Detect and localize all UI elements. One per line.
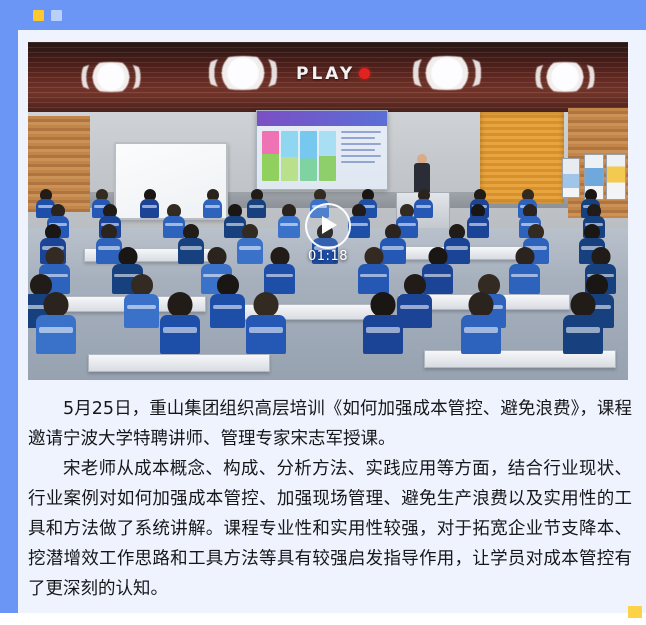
- article-paragraph-2: 宋老师从成本概念、构成、分析方法、实践应用等方面，结合行业现状、行业案例对如何加…: [28, 454, 632, 604]
- ceiling-sign-dot-icon: [359, 68, 370, 79]
- slide-image-tiles: [262, 131, 336, 181]
- content-card: PLAY: [18, 30, 646, 613]
- top-header-bar: [0, 0, 646, 30]
- audience-member: [160, 292, 200, 354]
- ceiling-sign-text: PLAY: [296, 64, 355, 84]
- video-duration-label: 01:18: [28, 249, 628, 264]
- audience-member: [278, 204, 300, 238]
- article-body: 5月25日，重山集团组织高层培训《如何加强成本管控、避免浪费》，课程邀请宁波大学…: [28, 394, 632, 604]
- audience-member: [461, 292, 501, 354]
- audience-member: [124, 274, 159, 328]
- ceiling-light-icon: [74, 62, 148, 92]
- ceiling-light-icon: [200, 56, 286, 90]
- orange-marker-icon: [33, 10, 44, 21]
- desk: [88, 354, 270, 372]
- audience-member: [210, 274, 245, 328]
- ceiling-light-icon: [528, 62, 602, 92]
- wall-poster: [562, 158, 580, 198]
- slide-bullet-lines: [341, 131, 383, 167]
- audience-member: [140, 189, 159, 218]
- ceiling-light-icon: [404, 56, 490, 90]
- audience-member: [363, 292, 403, 354]
- audience-member: [247, 189, 266, 218]
- left-accent-rail: [0, 30, 18, 613]
- wall-poster: [606, 154, 626, 200]
- audience-member: [246, 292, 286, 354]
- corner-accent-marker: [628, 606, 642, 618]
- projector-screen: [256, 110, 388, 190]
- audience-member: [563, 292, 603, 354]
- audience-member: [36, 292, 76, 354]
- audience-member: [467, 204, 489, 238]
- slide-title-text: [261, 114, 383, 123]
- play-button[interactable]: [305, 203, 351, 249]
- blue-marker-icon: [51, 10, 62, 21]
- article-paragraph-1: 5月25日，重山集团组织高层培训《如何加强成本管控、避免浪费》，课程邀请宁波大学…: [28, 394, 632, 454]
- video-player[interactable]: PLAY: [28, 42, 628, 380]
- audience-member: [348, 204, 370, 238]
- audience-member: [203, 189, 222, 218]
